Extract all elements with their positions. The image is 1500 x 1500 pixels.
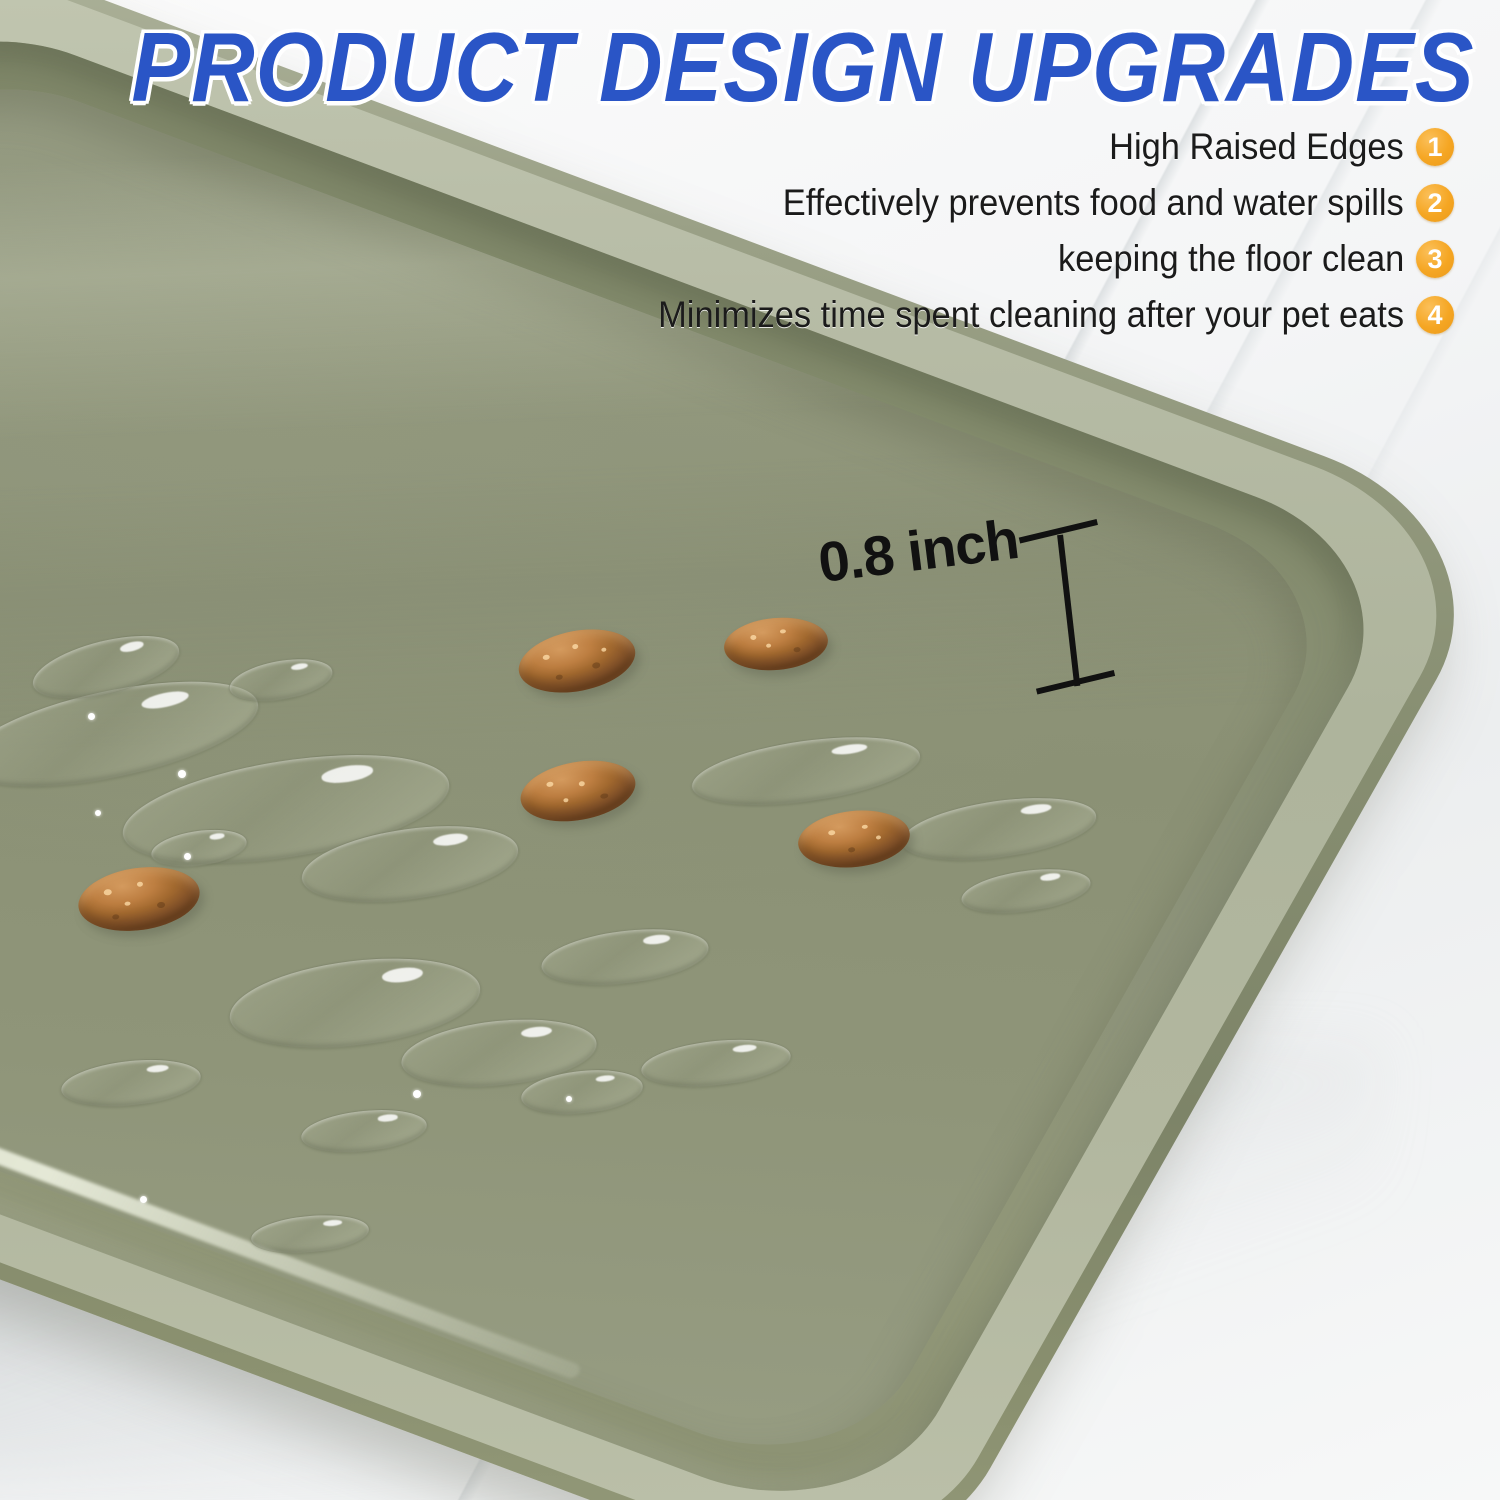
- water-specular-highlight: [95, 810, 101, 816]
- feature-number-badge: 3: [1416, 240, 1454, 278]
- water-specular-highlight: [140, 1196, 147, 1203]
- feature-label: High Raised Edges: [1109, 126, 1404, 168]
- feature-list: High Raised Edges 1 Effectively prevents…: [494, 126, 1454, 336]
- water-specular-highlight: [88, 713, 95, 720]
- feature-label: Minimizes time spent cleaning after your…: [658, 294, 1404, 336]
- water-specular-highlight: [413, 1090, 421, 1098]
- feature-label: Effectively prevents food and water spil…: [783, 182, 1404, 224]
- water-specular-highlight: [184, 853, 191, 860]
- feature-number-badge: 1: [1416, 128, 1454, 166]
- dimension-i-beam-icon: [1019, 523, 1128, 702]
- dimension-line: [1057, 535, 1080, 687]
- feature-number-badge: 4: [1416, 296, 1454, 334]
- product-feature-image: 0.8 inch PRODUCT DESIGN UPGRADES High Ra…: [0, 0, 1500, 1500]
- water-specular-highlight: [178, 770, 186, 778]
- feature-item-3: keeping the floor clean 3: [1032, 238, 1454, 280]
- feature-item-2: Effectively prevents food and water spil…: [736, 182, 1454, 224]
- feature-number-badge: 2: [1416, 184, 1454, 222]
- feature-item-1: High Raised Edges 1: [1087, 126, 1454, 168]
- water-specular-highlight: [566, 1096, 572, 1102]
- feature-item-4: Minimizes time spent cleaning after your…: [602, 294, 1454, 336]
- page-title: PRODUCT DESIGN UPGRADES: [118, 18, 1488, 117]
- feature-label: keeping the floor clean: [1058, 238, 1404, 280]
